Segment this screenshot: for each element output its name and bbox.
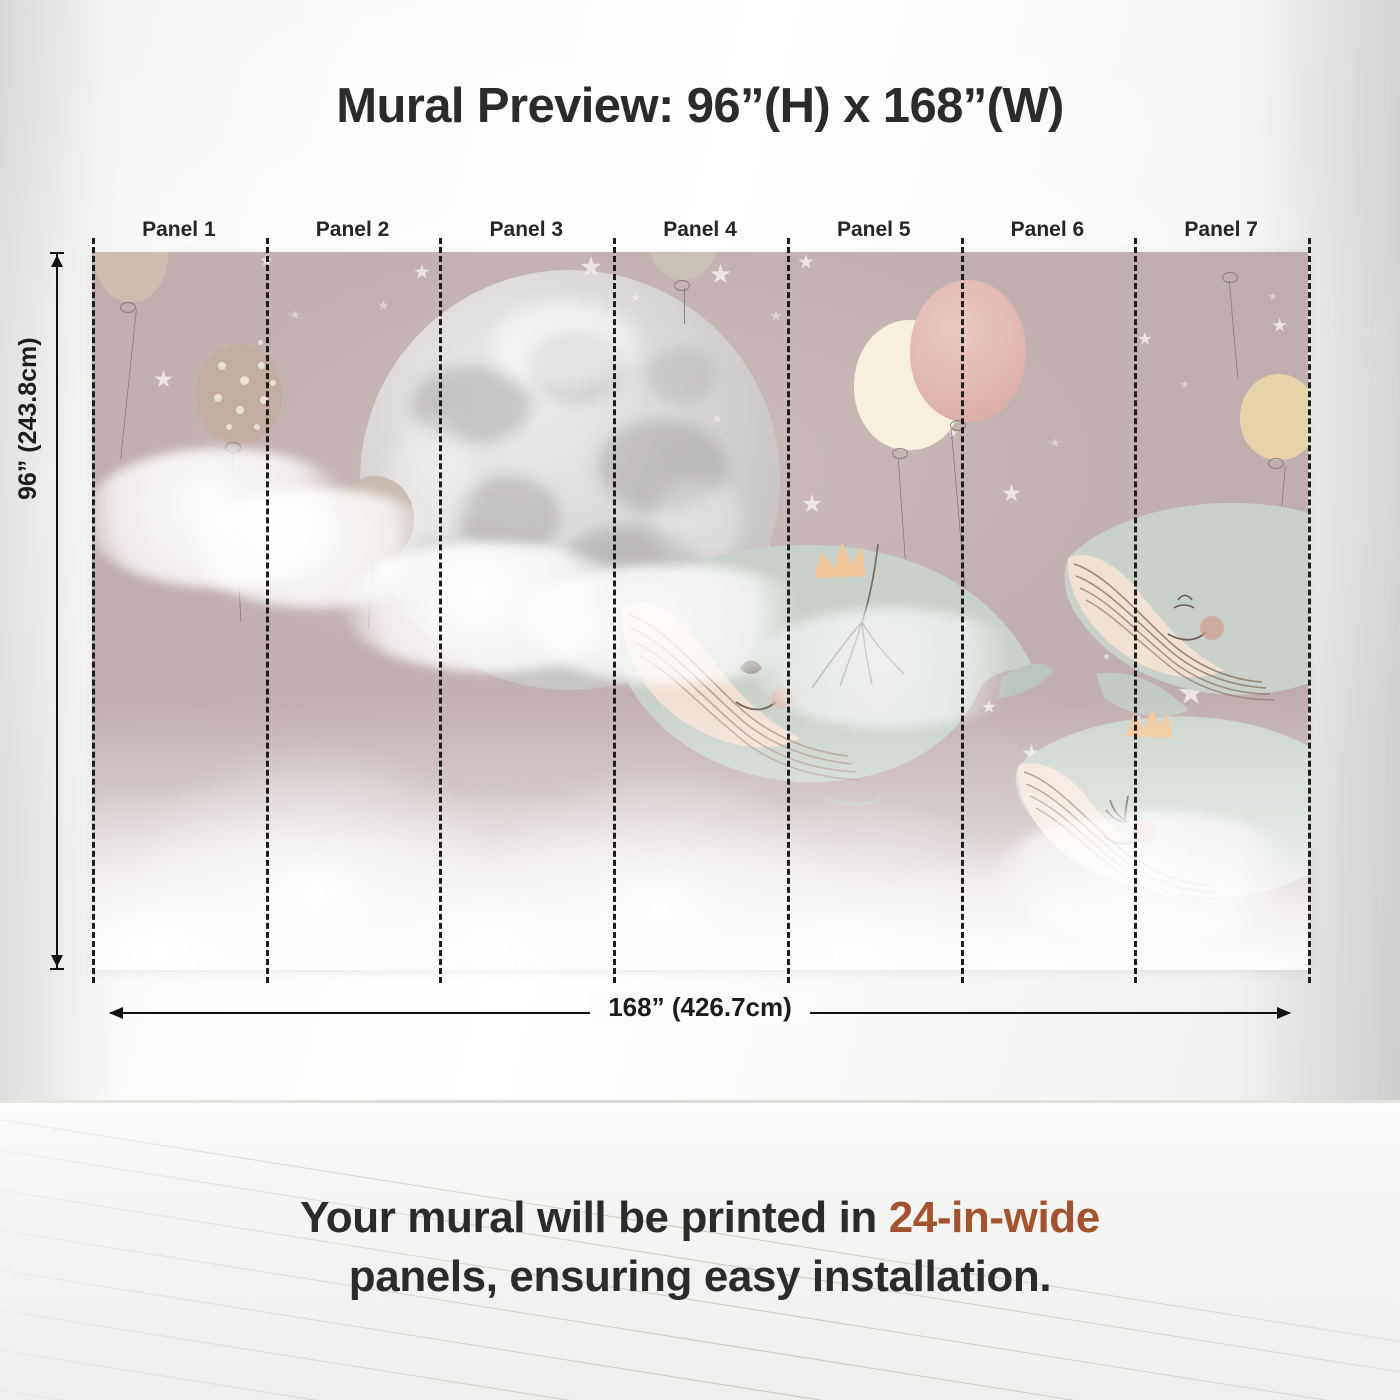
arrow-down-icon: [51, 955, 63, 967]
balloon-taupe-topleft: [94, 252, 168, 302]
mural-artwork: [92, 252, 1308, 970]
height-dimension-line: [56, 252, 58, 970]
caption-text: Your mural will be printed in 24-in-wide…: [0, 1188, 1400, 1307]
star-dot-icon: [714, 416, 720, 422]
arrow-up-icon: [51, 255, 63, 267]
panel-label-5: Panel 5: [787, 215, 961, 249]
balloon-string: [684, 288, 690, 324]
panel-label-6: Panel 6: [961, 215, 1135, 249]
panel-label-2: Panel 2: [266, 215, 440, 249]
height-dimension-label: 96” (243.8cm): [14, 337, 43, 500]
panel-label-row: Panel 1 Panel 2 Panel 3 Panel 4 Panel 5 …: [92, 215, 1308, 249]
balloon-knot-icon: [120, 302, 136, 313]
mural-preview-image: [92, 252, 1308, 970]
width-dimension-label: 168” (426.7cm): [0, 992, 1400, 1023]
balloon-polkadot: [196, 344, 282, 444]
balloon-grey-top: [648, 252, 718, 280]
balloon-rose: [910, 280, 1026, 422]
caption-line-2: panels, ensuring easy installation.: [0, 1247, 1400, 1306]
width-dimension-text: 168” (426.7cm): [590, 992, 810, 1022]
cloud-graphic: [992, 812, 1308, 942]
panel-label-3: Panel 3: [439, 215, 613, 249]
panel-label-4: Panel 4: [613, 215, 787, 249]
caption-accent-text: 24-in-wide: [889, 1193, 1100, 1242]
balloon-knot-icon: [1268, 458, 1284, 469]
panel-label-1: Panel 1: [92, 215, 266, 249]
panel-label-7: Panel 7: [1134, 215, 1308, 249]
cloud-graphic: [752, 608, 1032, 728]
balloon-tan-right: [1240, 374, 1308, 460]
page-title: Mural Preview: 96”(H) x 168”(W): [0, 78, 1400, 134]
caption-line1-prefix: Your mural will be printed in: [300, 1193, 889, 1242]
caption-line-1: Your mural will be printed in 24-in-wide: [0, 1188, 1400, 1247]
